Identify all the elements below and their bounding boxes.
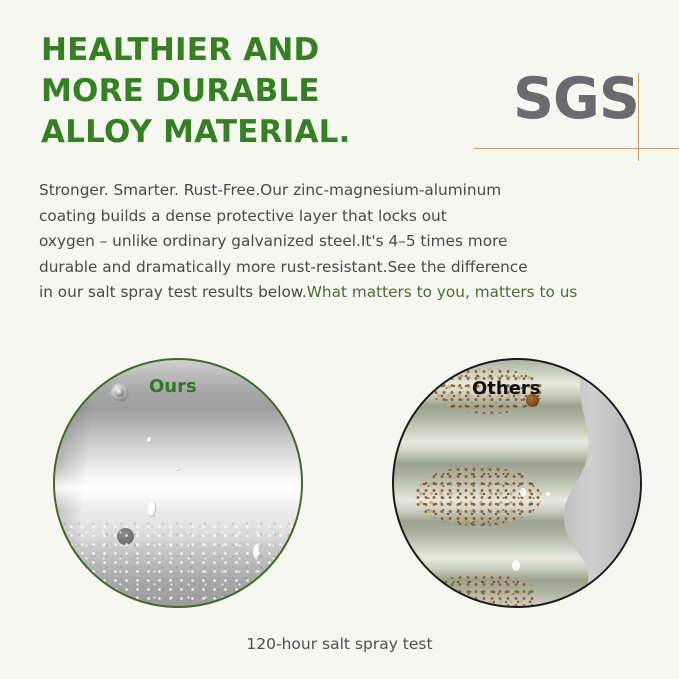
ours-sheen-highlight [53,468,303,507]
body-line-3: oxygen – unlike ordinary galvanized stee… [39,229,654,255]
water-droplet-icon [148,501,156,517]
comparison-sample-others: Others [392,358,642,608]
headline-line-2: MORE DURABLE [41,71,471,112]
sgs-logo-text: SGS [513,71,639,128]
body-line-5-prefix: in our salt spray test results below. [39,283,307,301]
rust-patch [424,574,539,608]
comparison-sample-ours: Ours [53,358,303,608]
ours-water-mist [55,522,301,606]
headline-line-3: ALLOY MATERIAL. [41,112,471,153]
body-line-4: durable and dramatically more rust-resis… [39,255,654,281]
corrosion-pit [512,560,520,571]
sgs-logo: SGS [470,66,679,166]
others-label: Others [472,378,541,399]
test-caption: 120-hour salt spray test [0,635,679,653]
body-line-2: coating builds a dense protective layer … [39,204,654,230]
corrosion-pit [546,492,550,496]
body-paragraph: Stronger. Smarter. Rust-Free.Our zinc-ma… [39,178,654,306]
corrosion-pit [520,488,526,497]
sgs-vertical-rule [638,73,639,161]
ours-label: Ours [149,376,197,397]
water-droplet-icon [147,437,152,443]
others-wavy-edge [558,360,640,606]
body-line-1: Stronger. Smarter. Rust-Free.Our zinc-ma… [39,178,654,204]
body-line-5: in our salt spray test results below.Wha… [39,280,654,306]
headline-line-1: HEALTHIER AND [41,30,471,71]
infographic-page: HEALTHIER AND MORE DURABLE ALLOY MATERIA… [0,0,679,679]
salt-spray-comparison: Ours Others [0,358,679,608]
hex-bolt-core-icon [115,388,124,397]
brand-tagline: What matters to you, matters to us [307,283,578,301]
page-title: HEALTHIER AND MORE DURABLE ALLOY MATERIA… [41,30,471,153]
sgs-horizontal-rule [474,148,679,149]
water-droplet-icon [176,467,180,471]
